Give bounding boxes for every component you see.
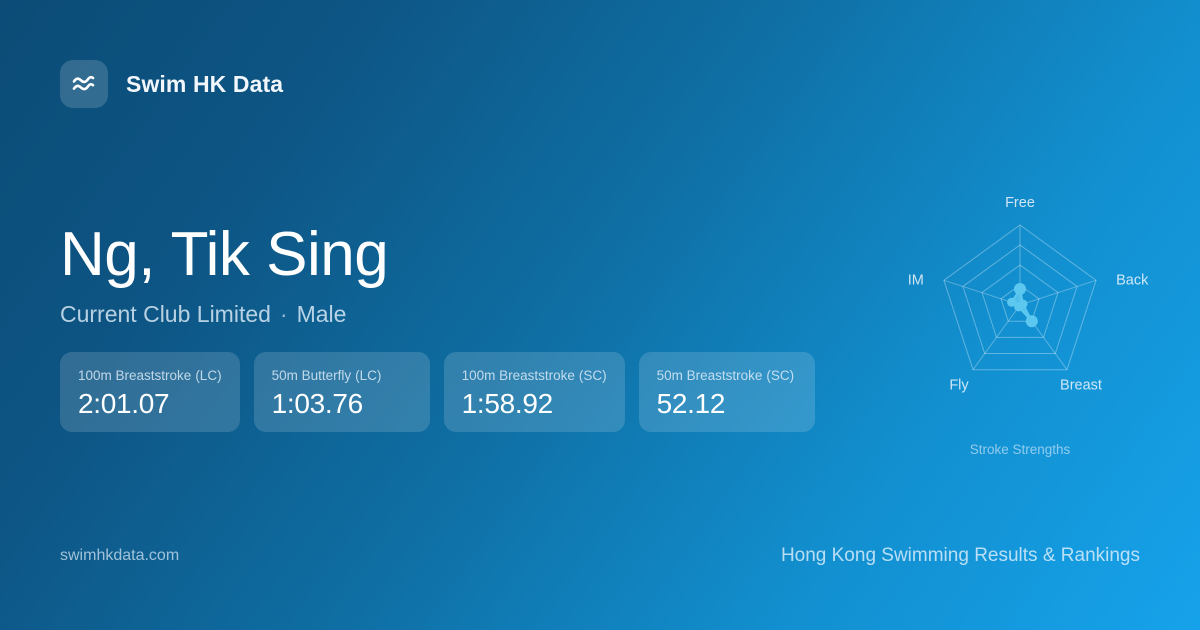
stat-card-label: 100m Breaststroke(LC) — [78, 368, 222, 383]
athlete-gender: Male — [297, 301, 347, 327]
radar-axis-labels: FreeBackBreastFlyIM — [908, 195, 1149, 394]
stat-card-label: 100m Breaststroke(SC) — [462, 368, 607, 383]
stat-card-value: 1:58.92 — [462, 390, 607, 418]
footer-site: swimhkdata.com — [60, 547, 179, 565]
stat-card: 100m Breaststroke(LC) 2:01.07 — [60, 352, 240, 432]
stat-card-event: 50m Breaststroke — [657, 368, 763, 383]
athlete-club: Current Club Limited — [60, 301, 271, 327]
radar-data-point — [1007, 298, 1016, 307]
stat-card-course: (SC) — [766, 368, 794, 383]
athlete-meta: Current Club Limited·Male — [60, 301, 388, 328]
stat-card-value: 52.12 — [657, 390, 797, 418]
brand-lockup: Swim HK Data — [60, 60, 283, 108]
stat-card-value: 1:03.76 — [272, 390, 412, 418]
stat-card-event: 50m Butterfly — [272, 368, 352, 383]
radar-axis-label-breast: Breast — [1060, 378, 1102, 394]
radar-caption: Stroke Strengths — [880, 442, 1160, 457]
stat-card-course: (SC) — [579, 368, 607, 383]
wave-icon — [60, 60, 108, 108]
footer-tagline: Hong Kong Swimming Results & Rankings — [781, 545, 1140, 567]
stat-card: 50m Butterfly(LC) 1:03.76 — [254, 352, 430, 432]
stat-card: 50m Breaststroke(SC) 52.12 — [639, 352, 815, 432]
stat-card-list: 100m Breaststroke(LC) 2:01.07 50m Butter… — [60, 352, 815, 432]
stat-card-value: 2:01.07 — [78, 390, 222, 418]
social-card: Swim HK Data Ng, Tik Sing Current Club L… — [0, 0, 1200, 630]
radar-data-point — [1026, 315, 1038, 327]
stat-card-course: (LC) — [355, 368, 381, 383]
stat-card-course: (LC) — [195, 368, 221, 383]
stat-card: 100m Breaststroke(SC) 1:58.92 — [444, 352, 625, 432]
page-title: Ng, Tik Sing — [60, 222, 388, 287]
radar-series-points — [1007, 283, 1038, 327]
stat-card-label: 50m Butterfly(LC) — [272, 368, 412, 383]
stat-card-event: 100m Breaststroke — [462, 368, 575, 383]
stat-card-label: 50m Breaststroke(SC) — [657, 368, 797, 383]
radar-axis-label-fly: Fly — [949, 378, 969, 394]
headline-block: Ng, Tik Sing Current Club Limited·Male — [60, 222, 388, 328]
radar-axis-label-free: Free — [1005, 195, 1035, 211]
stat-card-event: 100m Breaststroke — [78, 368, 191, 383]
stroke-strengths-radar-chart: FreeBackBreastFlyIM Stroke Strengths — [880, 170, 1170, 470]
radar-axis-label-back: Back — [1116, 272, 1149, 288]
radar-data-point — [1014, 283, 1026, 295]
radar-axis-label-im: IM — [908, 272, 924, 288]
meta-separator: · — [280, 301, 288, 327]
brand-name: Swim HK Data — [126, 71, 283, 98]
radar-spoke — [1020, 280, 1096, 305]
